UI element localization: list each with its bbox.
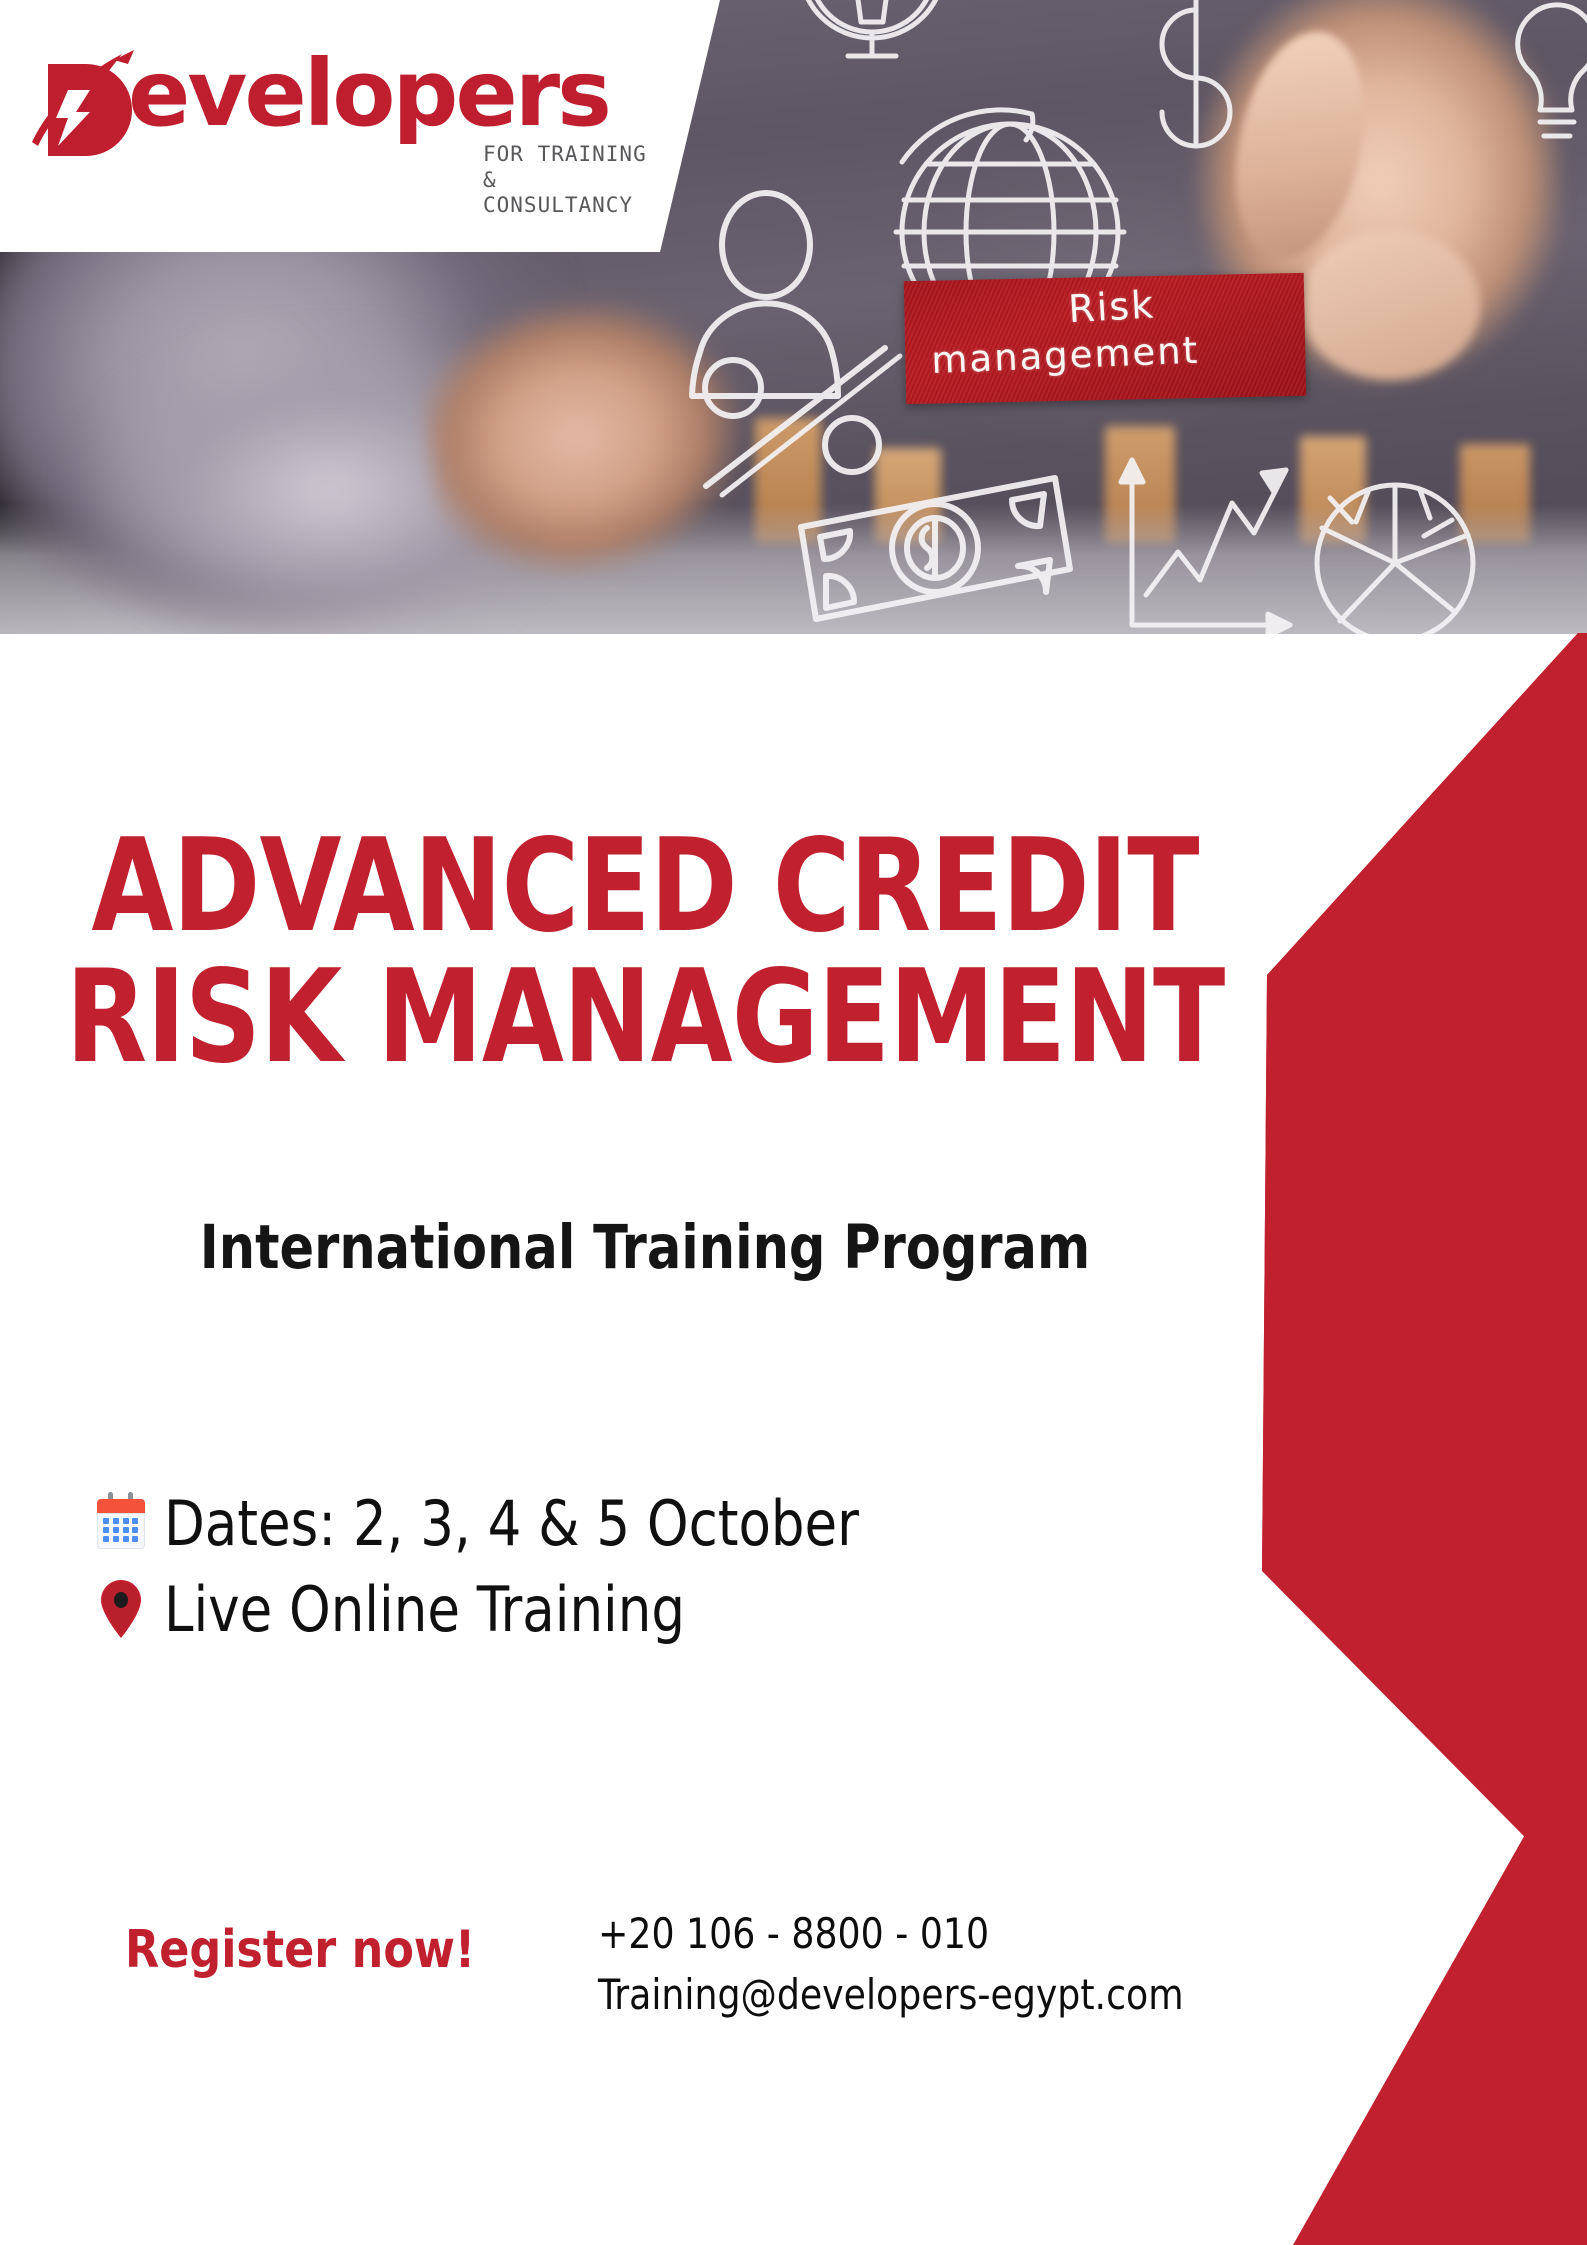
trophy-icon	[800, 0, 944, 56]
detail-text-location: Live Online Training	[164, 1573, 685, 1646]
calendar-icon	[78, 1497, 164, 1549]
banknote-icon	[801, 478, 1070, 619]
logo-tagline: FOR TRAINING & CONSULTANCY	[483, 142, 668, 219]
contact-phone[interactable]: +20 106 - 8800 - 010	[598, 1904, 1184, 1965]
poster-body: ADVANCED CREDIT RISK MANAGEMENT Internat…	[0, 634, 1587, 2245]
location-pin-icon	[78, 1579, 164, 1639]
event-details: Dates: 2, 3, 4 & 5 October Live Online T…	[78, 1480, 896, 1652]
title-line-1: ADVANCED CREDIT	[52, 822, 1239, 953]
title-line-2: RISK MANAGEMENT	[52, 953, 1239, 1084]
contact-email[interactable]: Training@developers-egypt.com	[598, 1965, 1184, 2026]
poster-root: Risk management evelopers FOR TRAINING &…	[0, 0, 1587, 2245]
risk-card-line-2: management	[931, 329, 1200, 382]
page-subtitle: International Training Program	[45, 1212, 1245, 1283]
lightbulb-icon	[1518, 5, 1587, 136]
register-cta[interactable]: Register now!	[125, 1920, 475, 1980]
detail-text-dates: Dates: 2, 3, 4 & 5 October	[164, 1487, 859, 1560]
risk-management-card: Risk management	[904, 273, 1306, 404]
contact-block: +20 106 - 8800 - 010 Training@developers…	[598, 1904, 1184, 2026]
detail-row-dates: Dates: 2, 3, 4 & 5 October	[78, 1480, 896, 1566]
percent-icon	[705, 348, 900, 495]
pie-chart-icon	[1317, 485, 1473, 634]
detail-row-location: Live Online Training	[78, 1566, 896, 1652]
line-chart-icon	[1121, 460, 1290, 634]
logo-wordmark: evelopers	[128, 48, 609, 140]
page-title: ADVANCED CREDIT RISK MANAGEMENT	[52, 822, 1239, 1083]
logo-badge: evelopers FOR TRAINING & CONSULTANCY	[0, 0, 720, 252]
logo: evelopers FOR TRAINING & CONSULTANCY	[28, 28, 668, 213]
dollar-sign-icon	[1162, 0, 1230, 146]
risk-card-line-1: Risk	[1067, 282, 1156, 331]
